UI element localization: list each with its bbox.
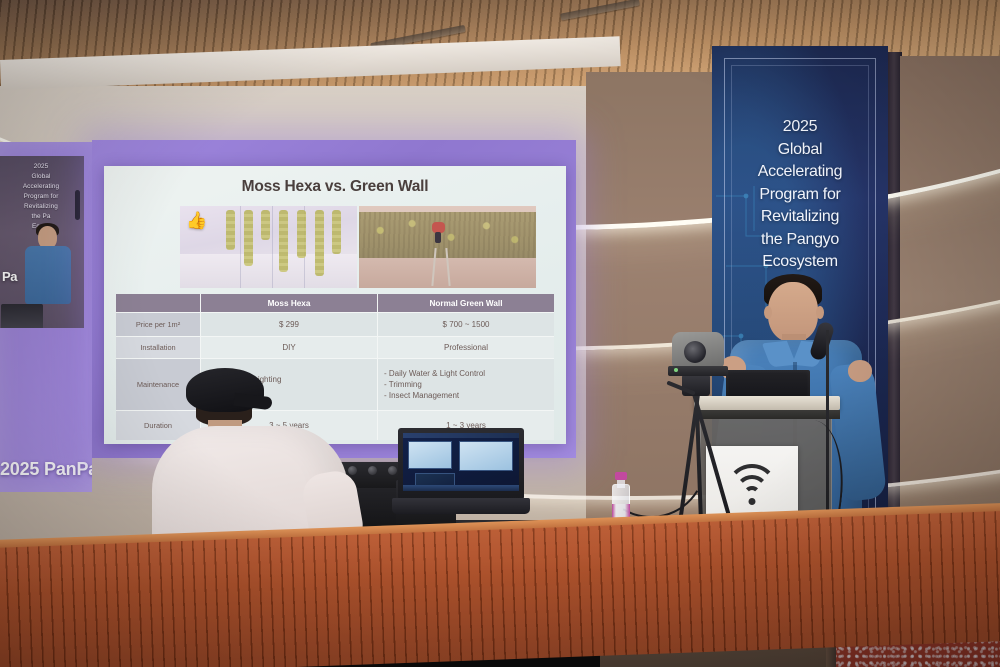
row-label-installation: Installation bbox=[116, 336, 200, 358]
thumbs-up-icon: 👍 bbox=[186, 212, 207, 229]
cell-price-moss-hexa: $ 299 bbox=[200, 312, 377, 336]
feed-banner-line: Revitalizing bbox=[0, 202, 84, 212]
ptz-camera bbox=[668, 332, 730, 384]
laptop-lid bbox=[398, 428, 524, 500]
feed-speaker-body bbox=[25, 246, 71, 304]
table-row: Installation DIY Professional bbox=[116, 336, 554, 358]
table-row: Price per 1m² $ 299 $ 700 ~ 1500 bbox=[116, 312, 554, 336]
presentation-room-scene: 2025 Global Accelerating Program for Rev… bbox=[0, 0, 1000, 667]
table-header-moss-hexa: Moss Hexa bbox=[200, 294, 377, 312]
podium-rail bbox=[694, 410, 840, 419]
slide-title: Moss Hexa vs. Green Wall bbox=[104, 178, 566, 196]
worker-figure bbox=[432, 222, 445, 242]
ceiling-vent bbox=[560, 0, 640, 21]
slide-image-row: 👍 bbox=[180, 206, 536, 288]
app-titlebar bbox=[403, 433, 519, 438]
maintenance-gw-line: - Insect Management bbox=[384, 390, 485, 401]
presenter-head bbox=[768, 282, 818, 342]
banner-line: Accelerating bbox=[720, 161, 880, 184]
podium-top-surface bbox=[694, 396, 840, 410]
feed-banner-line: Program for bbox=[0, 192, 84, 202]
video-switcher-laptop[interactable] bbox=[398, 428, 524, 512]
camera-status-led bbox=[674, 368, 678, 372]
moss-hexa-photo: 👍 bbox=[180, 206, 357, 288]
table-header-green-wall: Normal Green Wall bbox=[377, 294, 554, 312]
maintenance-gw-line: - Daily Water & Light Control bbox=[384, 368, 485, 379]
cell-maintenance-green-wall: - Daily Water & Light Control - Trimming… bbox=[377, 358, 554, 410]
feed-banner-line: the Pa bbox=[0, 212, 84, 222]
table-corner-cell bbox=[116, 294, 200, 312]
presenter-ear bbox=[816, 306, 824, 319]
laptop-base bbox=[392, 498, 530, 514]
moss-floor bbox=[180, 254, 357, 288]
cell-installation-green-wall: Professional bbox=[377, 336, 554, 358]
secondary-projection-left: 2025 Global Accelerating Program for Rev… bbox=[0, 142, 92, 492]
maintenance-gw-line: - Trimming bbox=[384, 379, 485, 390]
feed-brand-text: Pa bbox=[2, 269, 17, 284]
bottle-cap bbox=[615, 472, 627, 480]
banner-line: Revitalizing bbox=[720, 206, 880, 229]
cell-price-green-wall: $ 700 ~ 1500 bbox=[377, 312, 554, 336]
row-label-price: Price per 1m² bbox=[116, 312, 200, 336]
feed-banner-line: 2025 bbox=[0, 162, 84, 172]
green-wall-photo bbox=[359, 206, 536, 288]
presenter-right-hand bbox=[848, 360, 872, 382]
preview-window[interactable] bbox=[459, 441, 513, 471]
camera-lens-icon bbox=[684, 341, 706, 363]
table-header-row: Moss Hexa Normal Green Wall bbox=[116, 294, 554, 312]
cell-installation-moss-hexa: DIY bbox=[200, 336, 377, 358]
laptop-screen[interactable] bbox=[403, 433, 519, 491]
feed-banner-line: Global bbox=[0, 172, 84, 182]
preview-window[interactable] bbox=[408, 441, 452, 469]
banner-line: Global bbox=[720, 139, 880, 162]
feed-microphone bbox=[75, 190, 80, 220]
banner-line: Ecosystem bbox=[720, 251, 880, 274]
banner-line: 2025 bbox=[720, 116, 880, 139]
projection-caption: 2025 PanPan Dem bbox=[0, 459, 92, 480]
live-camera-feed: 2025 Global Accelerating Program for Rev… bbox=[0, 156, 84, 328]
ladder-icon bbox=[433, 248, 449, 286]
taskbar[interactable] bbox=[403, 485, 519, 491]
banner-title: 2025 Global Accelerating Program for Rev… bbox=[720, 116, 880, 274]
presenter-ear bbox=[764, 306, 772, 319]
feed-podium bbox=[1, 304, 43, 328]
banner-line: Program for bbox=[720, 184, 880, 207]
feed-banner-line: Accelerating bbox=[0, 182, 84, 192]
banner-line: the Pangyo bbox=[720, 229, 880, 252]
